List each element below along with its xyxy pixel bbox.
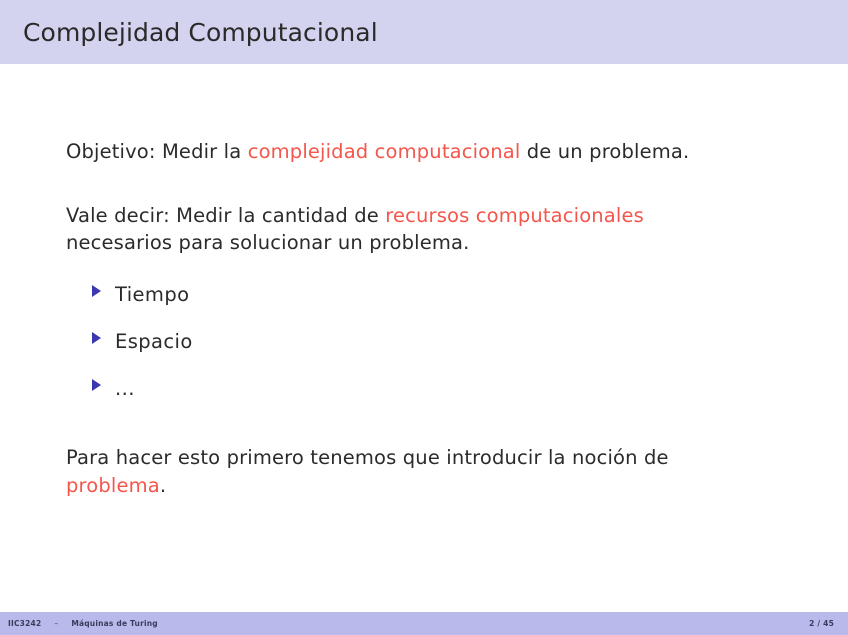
slide-title-bar: Complejidad Computacional bbox=[0, 0, 848, 64]
final-highlight: problema bbox=[66, 474, 160, 497]
list-item: Espacio bbox=[92, 330, 778, 353]
bullet-list: Tiempo Espacio ... bbox=[66, 283, 778, 400]
objetivo-text-pre: Objetivo: Medir la bbox=[66, 140, 248, 163]
presentation-slide: Complejidad Computacional Objetivo: Medi… bbox=[0, 0, 848, 635]
vale-text-post: necesarios para solucionar un problema. bbox=[66, 231, 469, 254]
footer-subject-title: Máquinas de Turing bbox=[71, 619, 158, 628]
list-item: ... bbox=[92, 377, 778, 400]
bullet-item-label: Tiempo bbox=[115, 283, 189, 306]
objetivo-text-post: de un problema. bbox=[520, 140, 689, 163]
slide-footer-bar: IIC3242 – Máquinas de Turing 2 / 45 bbox=[0, 612, 848, 635]
slide-content: Objetivo: Medir la complejidad computaci… bbox=[66, 138, 778, 499]
objetivo-highlight: complejidad computacional bbox=[248, 140, 521, 163]
final-text-post: . bbox=[160, 474, 166, 497]
bullet-item-label: ... bbox=[115, 377, 135, 400]
page-title: Complejidad Computacional bbox=[23, 20, 378, 45]
paragraph-objetivo: Objetivo: Medir la complejidad computaci… bbox=[66, 138, 778, 166]
vale-text-pre: Vale decir: Medir la cantidad de bbox=[66, 204, 385, 227]
bullet-item-label: Espacio bbox=[115, 330, 193, 353]
footer-left-group: IIC3242 – Máquinas de Turing bbox=[8, 619, 158, 628]
footer-course-code: IIC3242 bbox=[8, 619, 41, 628]
triangle-bullet-icon bbox=[92, 285, 101, 297]
final-text-pre: Para hacer esto primero tenemos que intr… bbox=[66, 446, 669, 469]
triangle-bullet-icon bbox=[92, 332, 101, 344]
slide-body: Objetivo: Medir la complejidad computaci… bbox=[0, 64, 848, 635]
footer-page-number: 2 / 45 bbox=[809, 619, 834, 628]
triangle-bullet-icon bbox=[92, 379, 101, 391]
list-item: Tiempo bbox=[92, 283, 778, 306]
paragraph-final: Para hacer esto primero tenemos que intr… bbox=[66, 444, 726, 499]
footer-separator: – bbox=[54, 619, 58, 628]
vale-highlight: recursos computacionales bbox=[385, 204, 644, 227]
paragraph-vale-decir: Vale decir: Medir la cantidad de recurso… bbox=[66, 202, 706, 257]
